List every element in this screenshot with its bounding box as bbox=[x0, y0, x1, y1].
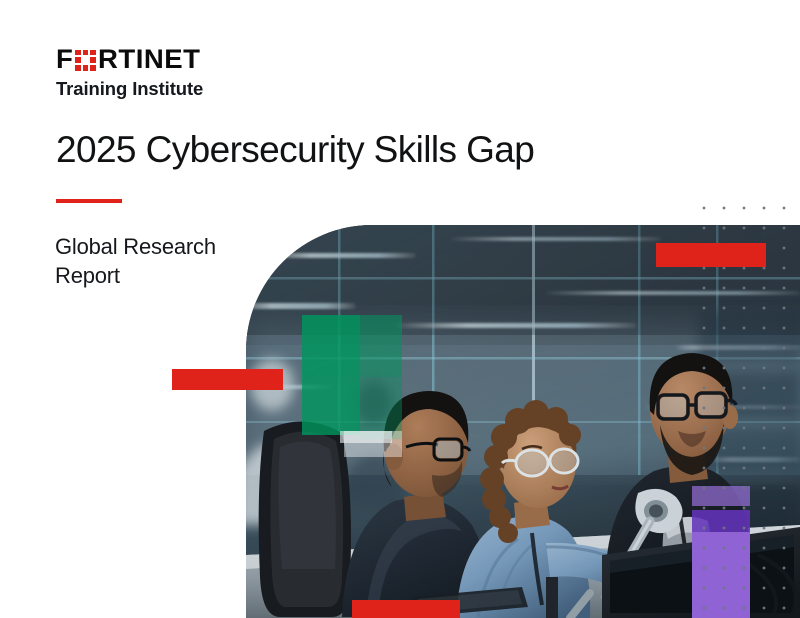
o-cell-8 bbox=[83, 65, 89, 71]
fortinet-wordmark: F RTINET bbox=[56, 46, 356, 72]
subtitle-line-2: Report bbox=[55, 263, 120, 288]
o-cell-center-hole bbox=[83, 57, 89, 63]
fortinet-o-grid-icon bbox=[75, 50, 96, 71]
page-subtitle: Global Research Report bbox=[55, 232, 265, 290]
o-cell-4 bbox=[75, 57, 81, 63]
red-accent-bar-bottom bbox=[352, 600, 460, 618]
o-cell-7 bbox=[75, 65, 81, 71]
fortinet-logo: F RTINET Training Institute bbox=[56, 46, 356, 100]
red-accent-bar-right bbox=[656, 243, 766, 267]
logo-subtitle: Training Institute bbox=[56, 78, 356, 100]
title-divider-rule bbox=[56, 199, 122, 203]
subtitle-line-1: Global Research bbox=[55, 234, 216, 259]
o-cell-6 bbox=[90, 57, 96, 63]
purple-accent-block bbox=[246, 225, 800, 618]
page-title: 2025 Cybersecurity Skills Gap bbox=[56, 127, 534, 173]
o-cell-9 bbox=[90, 65, 96, 71]
red-accent-bar-left bbox=[172, 369, 283, 390]
wordmark-letters-rtinet: RTINET bbox=[98, 46, 201, 72]
report-cover-page: F RTINET Training Institute 2025 Cyberse… bbox=[0, 0, 800, 618]
purple-accent-dark bbox=[692, 510, 750, 532]
wordmark-letter-f: F bbox=[56, 46, 73, 72]
o-cell-1 bbox=[75, 50, 81, 56]
o-cell-3 bbox=[90, 50, 96, 56]
purple-accent-light bbox=[692, 486, 750, 506]
purple-accent-main bbox=[692, 532, 750, 618]
o-cell-2 bbox=[83, 50, 89, 56]
